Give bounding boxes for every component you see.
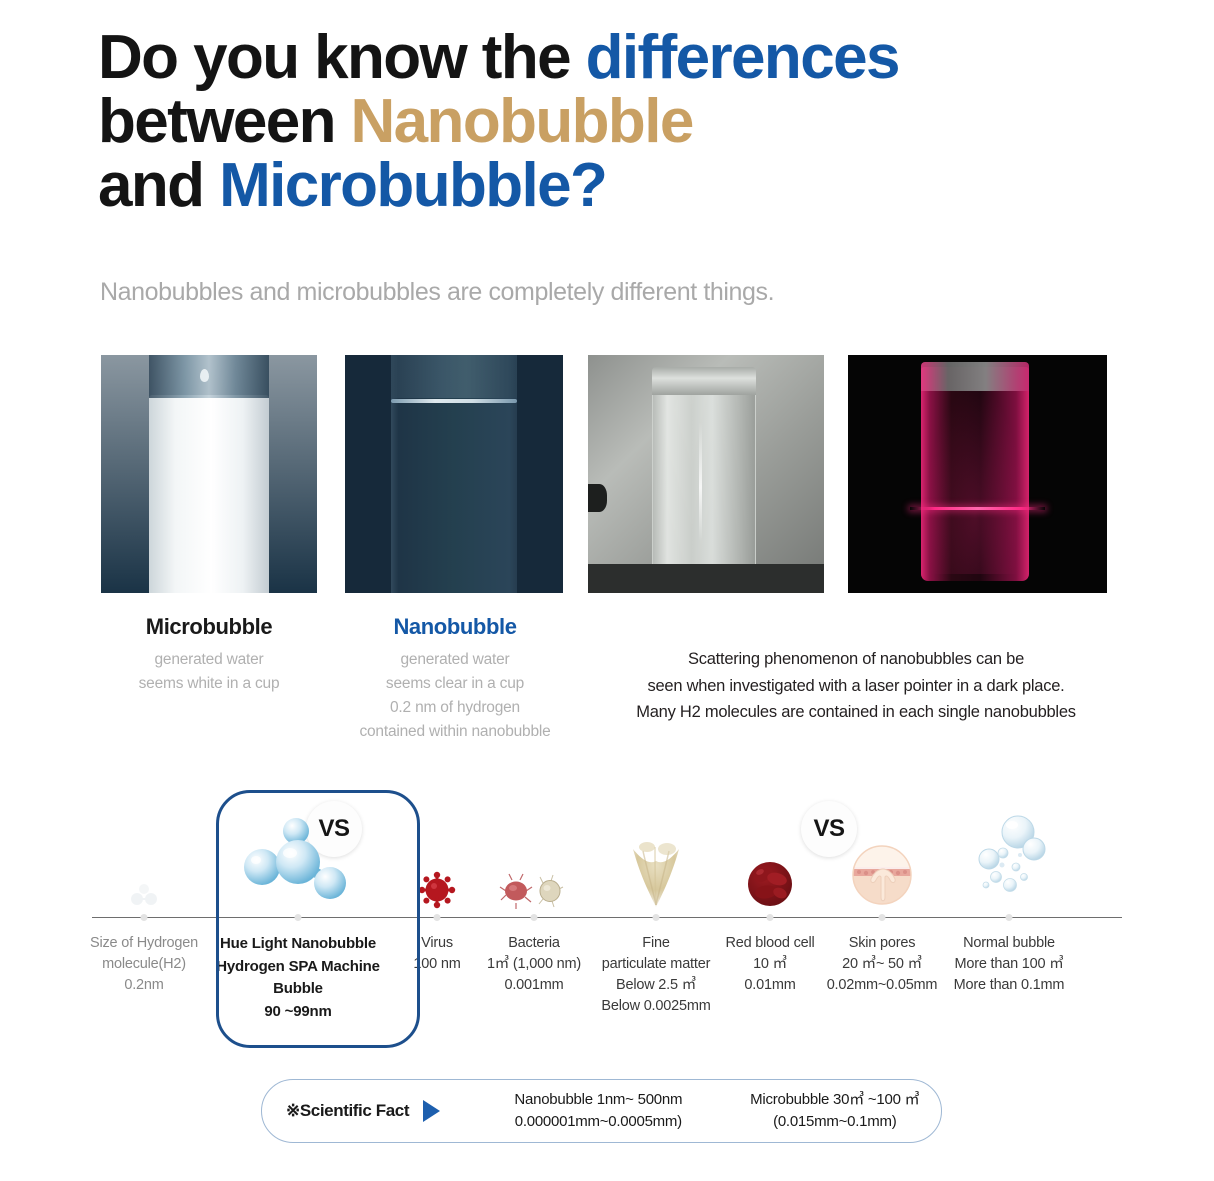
photo-milky-liquid <box>149 395 270 593</box>
scale-tick-dot <box>879 914 886 921</box>
normal-bubble-icon <box>972 815 1046 911</box>
label-line: 0.01mm <box>722 975 818 996</box>
scattering-line: Many H2 molecules are contained in each … <box>600 699 1112 726</box>
scale-item-bacteria: Bacteria 1㎥ (1,000 nm) 0.001mm <box>478 780 590 996</box>
microbubble-caption: Microbubble generated water seems white … <box>94 614 324 696</box>
label-line: Virus <box>396 933 478 954</box>
nanobubble-caption: Nanobubble generated water seems clear i… <box>336 614 574 744</box>
label-line: molecule(H2) <box>88 954 200 975</box>
scale-item-label: Virus 100 nm <box>396 917 478 975</box>
fact-line: 0.000001mm~0.0005mm) <box>492 1111 704 1133</box>
bacteria-icon <box>498 871 570 911</box>
scale-item-label: Size of Hydrogen molecule(H2) 0.2nm <box>88 917 200 996</box>
infographic-page: Do you know the differences between Nano… <box>0 0 1214 1181</box>
size-comparison-scale: Size of Hydrogen molecule(H2) 0.2nm <box>0 780 1214 1060</box>
label-line: Hydrogen SPA Machine <box>200 956 396 979</box>
fact-line: Microbubble 30㎥ ~100 ㎥ <box>729 1089 941 1111</box>
label-line: particulate matter <box>590 954 722 975</box>
microbubble-caption-body: generated water seems white in a cup <box>94 648 324 696</box>
microbubble-caption-title: Microbubble <box>94 614 324 640</box>
scale-item-hue-light-nanobubble: Hue Light Nanobubble Hydrogen SPA Machin… <box>200 780 396 1023</box>
bottle-laser-scattering-photo <box>848 355 1107 593</box>
microbubble-water-photo <box>101 355 317 593</box>
photo-foreground-object <box>588 484 607 513</box>
caption-line: 0.2 nm of hydrogen <box>336 696 574 720</box>
fact-line: Nanobubble 1nm~ 500nm <box>492 1089 704 1111</box>
photo-laser-beam <box>910 507 1045 510</box>
headline-line-1-blue: differences <box>586 23 899 92</box>
label-line: 0.001mm <box>478 975 590 996</box>
caption-line: contained within nanobubble <box>336 720 574 744</box>
scientific-fact-box: ※Scientific Fact Nanobubble 1nm~ 500nm 0… <box>261 1079 942 1143</box>
label-line: Bacteria <box>478 933 590 954</box>
label-line: Fine <box>590 933 722 954</box>
photo-water-surface-line <box>391 399 517 403</box>
label-line: Skin pores <box>818 933 946 954</box>
red-blood-cell-icon <box>742 855 798 911</box>
scale-item-label: Normal bubble More than 100 ㎥ More than … <box>946 917 1072 996</box>
headline-line-2: between Nanobubble <box>98 90 1108 154</box>
scale-tick-dot <box>767 914 774 921</box>
play-triangle-icon <box>423 1100 440 1122</box>
label-line: 0.02mm~0.05mm <box>818 975 946 996</box>
label-line: Bubble <box>200 978 396 1001</box>
label-line: 100 nm <box>396 954 478 975</box>
scale-item-label: Fine particulate matter Below 2.5 ㎥ Belo… <box>590 917 722 1018</box>
label-line: More than 100 ㎥ <box>946 954 1072 975</box>
scale-item-label: Skin pores 20 ㎥~ 50 ㎥ 0.02mm~0.05mm <box>818 917 946 996</box>
scale-icon-slot <box>478 780 590 917</box>
scale-item-label: Hue Light Nanobubble Hydrogen SPA Machin… <box>200 917 396 1023</box>
nanobubble-molecule-icon <box>234 811 362 911</box>
headline-line-3-blue: Microbubble? <box>219 151 606 220</box>
label-line: Normal bubble <box>946 933 1072 954</box>
headline-line-3-black: and <box>98 151 219 220</box>
skin-pores-icon <box>846 839 918 911</box>
scale-tick-dot <box>653 914 660 921</box>
label-line: 1㎥ (1,000 nm) <box>478 954 590 975</box>
scale-item-normal-bubble: Normal bubble More than 100 ㎥ More than … <box>946 780 1072 996</box>
photo-highlight-streak <box>699 422 702 541</box>
scale-tick-dot <box>295 914 302 921</box>
photo-bottle-neck <box>652 367 756 396</box>
nanobubble-caption-title: Nanobubble <box>336 614 574 640</box>
scale-icon-slot <box>88 780 200 917</box>
scattering-line: seen when investigated with a laser poin… <box>600 673 1112 700</box>
scale-item-list: Size of Hydrogen molecule(H2) 0.2nm <box>88 780 1126 1060</box>
scale-item-hydrogen-molecule: Size of Hydrogen molecule(H2) 0.2nm <box>88 780 200 996</box>
page-subtitle: Nanobubbles and microbubbles are complet… <box>100 278 774 307</box>
photo-cylinder-neck <box>391 355 517 398</box>
scale-icon-slot <box>590 780 722 917</box>
virus-icon <box>416 869 458 911</box>
scale-icon-slot <box>818 780 946 917</box>
caption-line: seems clear in a cup <box>336 672 574 696</box>
page-title: Do you know the differences between Nano… <box>98 26 1108 218</box>
nanobubble-water-photo <box>345 355 563 593</box>
label-line: More than 0.1mm <box>946 975 1072 996</box>
label-line: 90 ~99nm <box>200 1001 396 1024</box>
hydrogen-molecule-icon <box>127 881 161 911</box>
scale-tick-dot <box>434 914 441 921</box>
bottle-normal-light-photo <box>588 355 824 593</box>
caption-line: generated water <box>336 648 574 672</box>
scale-icon-slot <box>946 780 1072 917</box>
comparison-photo-row: VS VS <box>0 355 1214 593</box>
scale-item-label: Red blood cell 10 ㎥ 0.01mm <box>722 917 818 996</box>
nanobubble-caption-body: generated water seems clear in a cup 0.2… <box>336 648 574 744</box>
photo-clear-liquid <box>393 400 515 593</box>
scale-item-fine-particulate-matter: Fine particulate matter Below 2.5 ㎥ Belo… <box>590 780 722 1018</box>
label-line: Hue Light Nanobubble <box>200 933 396 956</box>
scale-item-virus: Virus 100 nm <box>396 780 478 975</box>
scientific-fact-microbubble: Microbubble 30㎥ ~100 ㎥ (0.015mm~0.1mm) <box>729 1089 941 1133</box>
scale-item-red-blood-cell: Red blood cell 10 ㎥ 0.01mm <box>722 780 818 996</box>
scale-icon-slot <box>200 780 396 917</box>
label-line: Below 2.5 ㎥ <box>590 975 722 996</box>
scale-tick-dot <box>141 914 148 921</box>
headline-line-1-black: Do you know the <box>98 23 586 92</box>
scale-item-skin-pores: Skin pores 20 ㎥~ 50 ㎥ 0.02mm~0.05mm <box>818 780 946 996</box>
headline-line-2-black: between <box>98 87 351 156</box>
scientific-fact-nanobubble: Nanobubble 1nm~ 500nm 0.000001mm~0.0005m… <box>492 1089 704 1133</box>
caption-line: generated water <box>94 648 324 672</box>
scale-icon-slot <box>396 780 478 917</box>
scientific-fact-label: ※Scientific Fact <box>286 1101 409 1121</box>
scattering-line: Scattering phenomenon of nanobubbles can… <box>600 646 1112 673</box>
scale-tick-dot <box>1006 914 1013 921</box>
label-line: 0.2nm <box>88 975 200 996</box>
caption-line: seems white in a cup <box>94 672 324 696</box>
label-line: 10 ㎥ <box>722 954 818 975</box>
label-line: Red blood cell <box>722 933 818 954</box>
headline-line-2-gold: Nanobubble <box>351 87 693 156</box>
headline-line-3: and Microbubble? <box>98 154 1108 218</box>
scale-icon-slot <box>722 780 818 917</box>
scale-item-label: Bacteria 1㎥ (1,000 nm) 0.001mm <box>478 917 590 996</box>
photo-laser-glow <box>926 384 1024 574</box>
scale-tick-dot <box>531 914 538 921</box>
scattering-explanation: Scattering phenomenon of nanobubbles can… <box>600 646 1112 726</box>
headline-line-1: Do you know the differences <box>98 26 1108 90</box>
fact-line: (0.015mm~0.1mm) <box>729 1111 941 1133</box>
label-line: Size of Hydrogen <box>88 933 200 954</box>
label-line: Below 0.0025mm <box>590 996 722 1017</box>
label-line: 20 ㎥~ 50 ㎥ <box>818 954 946 975</box>
photo-clear-bottle <box>652 372 756 574</box>
fine-particulate-matter-icon <box>617 835 695 911</box>
photo-table-surface <box>588 564 824 593</box>
